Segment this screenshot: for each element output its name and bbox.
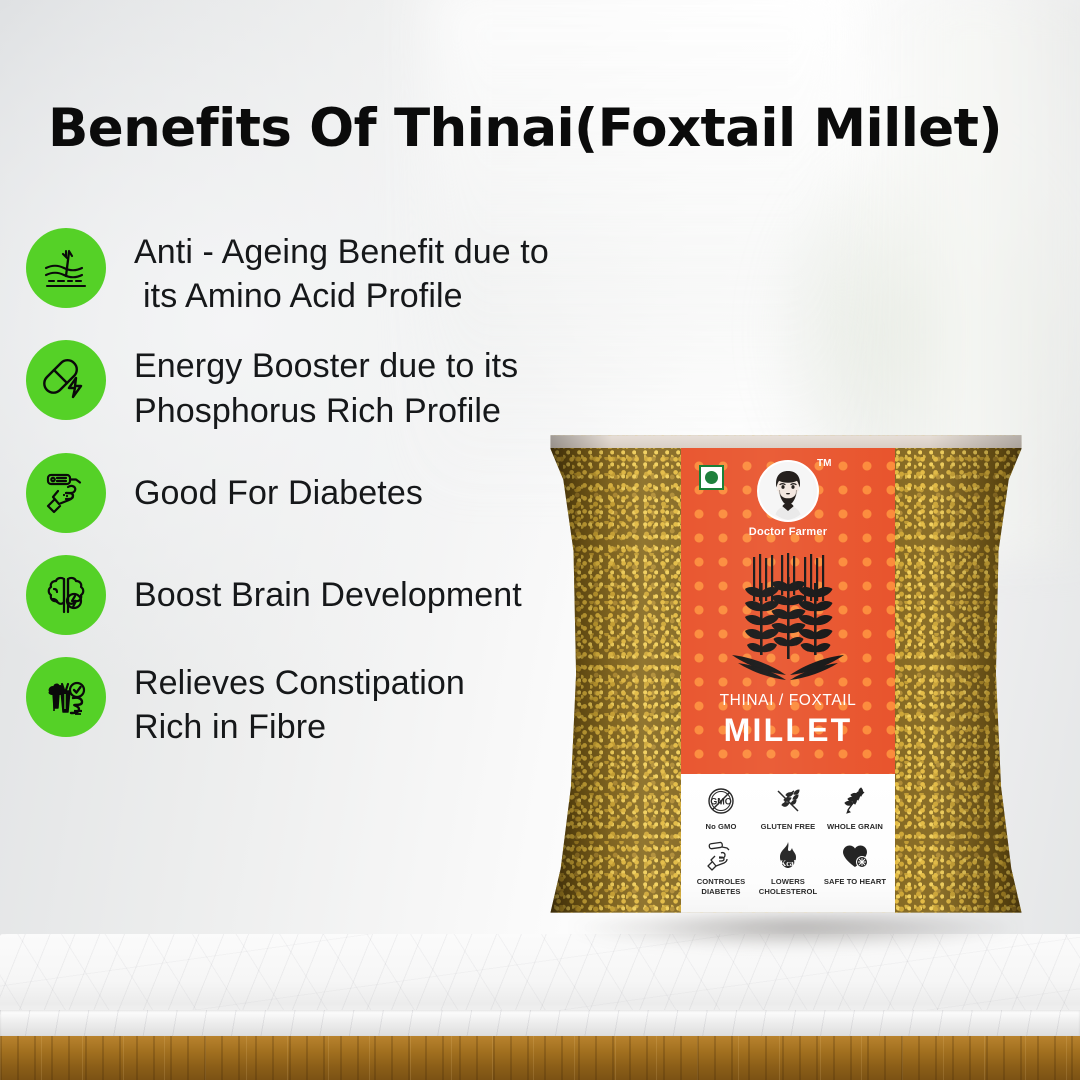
trademark-symbol: TM [817,458,831,469]
vegetables-fibre-icon [26,657,106,737]
badge-label: WHOLE GRAIN [827,822,883,831]
wheat-stalks-icon [726,553,850,690]
benefit-text: Good For Diabetes [134,471,423,515]
glucose-meter-icon [26,453,106,533]
badge-lowers-cholesterol: Kcal LOWERS CHOLESTEROL [756,837,820,896]
lowers-cholesterol-icon: Kcal [772,837,804,875]
benefit-line-1: Good For Diabetes [134,474,423,512]
svg-text:Kcal: Kcal [780,859,797,868]
product-name-sub: THINAI / FOXTAIL [681,692,895,710]
product-package: TM Doctor Farmer [530,418,1042,958]
benefit-line-1: Energy Booster due to its [134,347,518,385]
benefit-line-2: Rich in Fibre [134,705,465,749]
benefit-line-1: Boost Brain Development [134,576,522,614]
benefit-text: Relieves Constipation Rich in Fibre [134,657,465,749]
avatar [757,460,819,522]
benefit-line-2: its Amino Acid Profile [134,274,549,318]
product-name-main: MILLET [681,712,895,749]
benefit-line-2: Phosphorus Rich Profile [134,389,518,433]
safe-to-heart-icon [839,837,871,875]
whole-grain-icon [839,782,871,820]
badge-label: CONTROLES DIABETES [689,877,753,896]
countertop-edge [0,1010,1080,1036]
brand-name: Doctor Farmer [749,526,827,538]
badge-no-gmo: GMO No GMO [689,782,753,831]
benefit-text: Energy Booster due to its Phosphorus Ric… [134,340,518,432]
badge-row-1: GMO No GMO [689,782,887,831]
package-shadow [570,914,1022,948]
controls-diabetes-icon [705,837,737,875]
package-body: TM Doctor Farmer [530,418,1042,930]
capsule-energy-icon [26,340,106,420]
benefit-text: Boost Brain Development [134,573,522,617]
gluten-free-icon [772,782,804,820]
badge-row-2: CONTROLES DIABETES Kcal LOWERS CHOLESTER… [689,837,887,896]
wooden-floor-strip [0,1036,1080,1080]
brand-badge: TM [757,460,819,522]
skin-wrinkle-icon [26,228,106,308]
benefit-line-1: Anti - Ageing Benefit due to [134,233,549,271]
badge-whole-grain: WHOLE GRAIN [823,782,887,831]
benefit-text: Anti - Ageing Benefit due to its Amino A… [134,228,549,318]
brain-bolt-icon [26,555,106,635]
poster-canvas: Benefits Of Thinai(Foxtail Millet) Anti … [0,0,1080,1080]
badge-label: LOWERS CHOLESTEROL [756,877,820,896]
package-top-seal [530,418,1042,448]
package-label: TM Doctor Farmer [681,448,895,930]
benefit-item-anti-ageing: Anti - Ageing Benefit due to its Amino A… [26,228,646,318]
no-gmo-icon: GMO [705,782,737,820]
certification-badges: GMO No GMO [681,782,895,902]
brand-block: TM Doctor Farmer [681,460,895,538]
badge-label: No GMO [706,822,737,831]
badge-label: GLUTEN FREE [761,822,816,831]
badge-safe-to-heart: SAFE TO HEART [823,837,887,896]
badge-label: SAFE TO HEART [824,877,886,886]
page-title: Benefits Of Thinai(Foxtail Millet) [48,98,1038,159]
badge-gluten-free: GLUTEN FREE [756,782,820,831]
benefit-line-1: Relieves Constipation [134,664,465,702]
badge-controls-diabetes: CONTROLES DIABETES [689,837,753,896]
